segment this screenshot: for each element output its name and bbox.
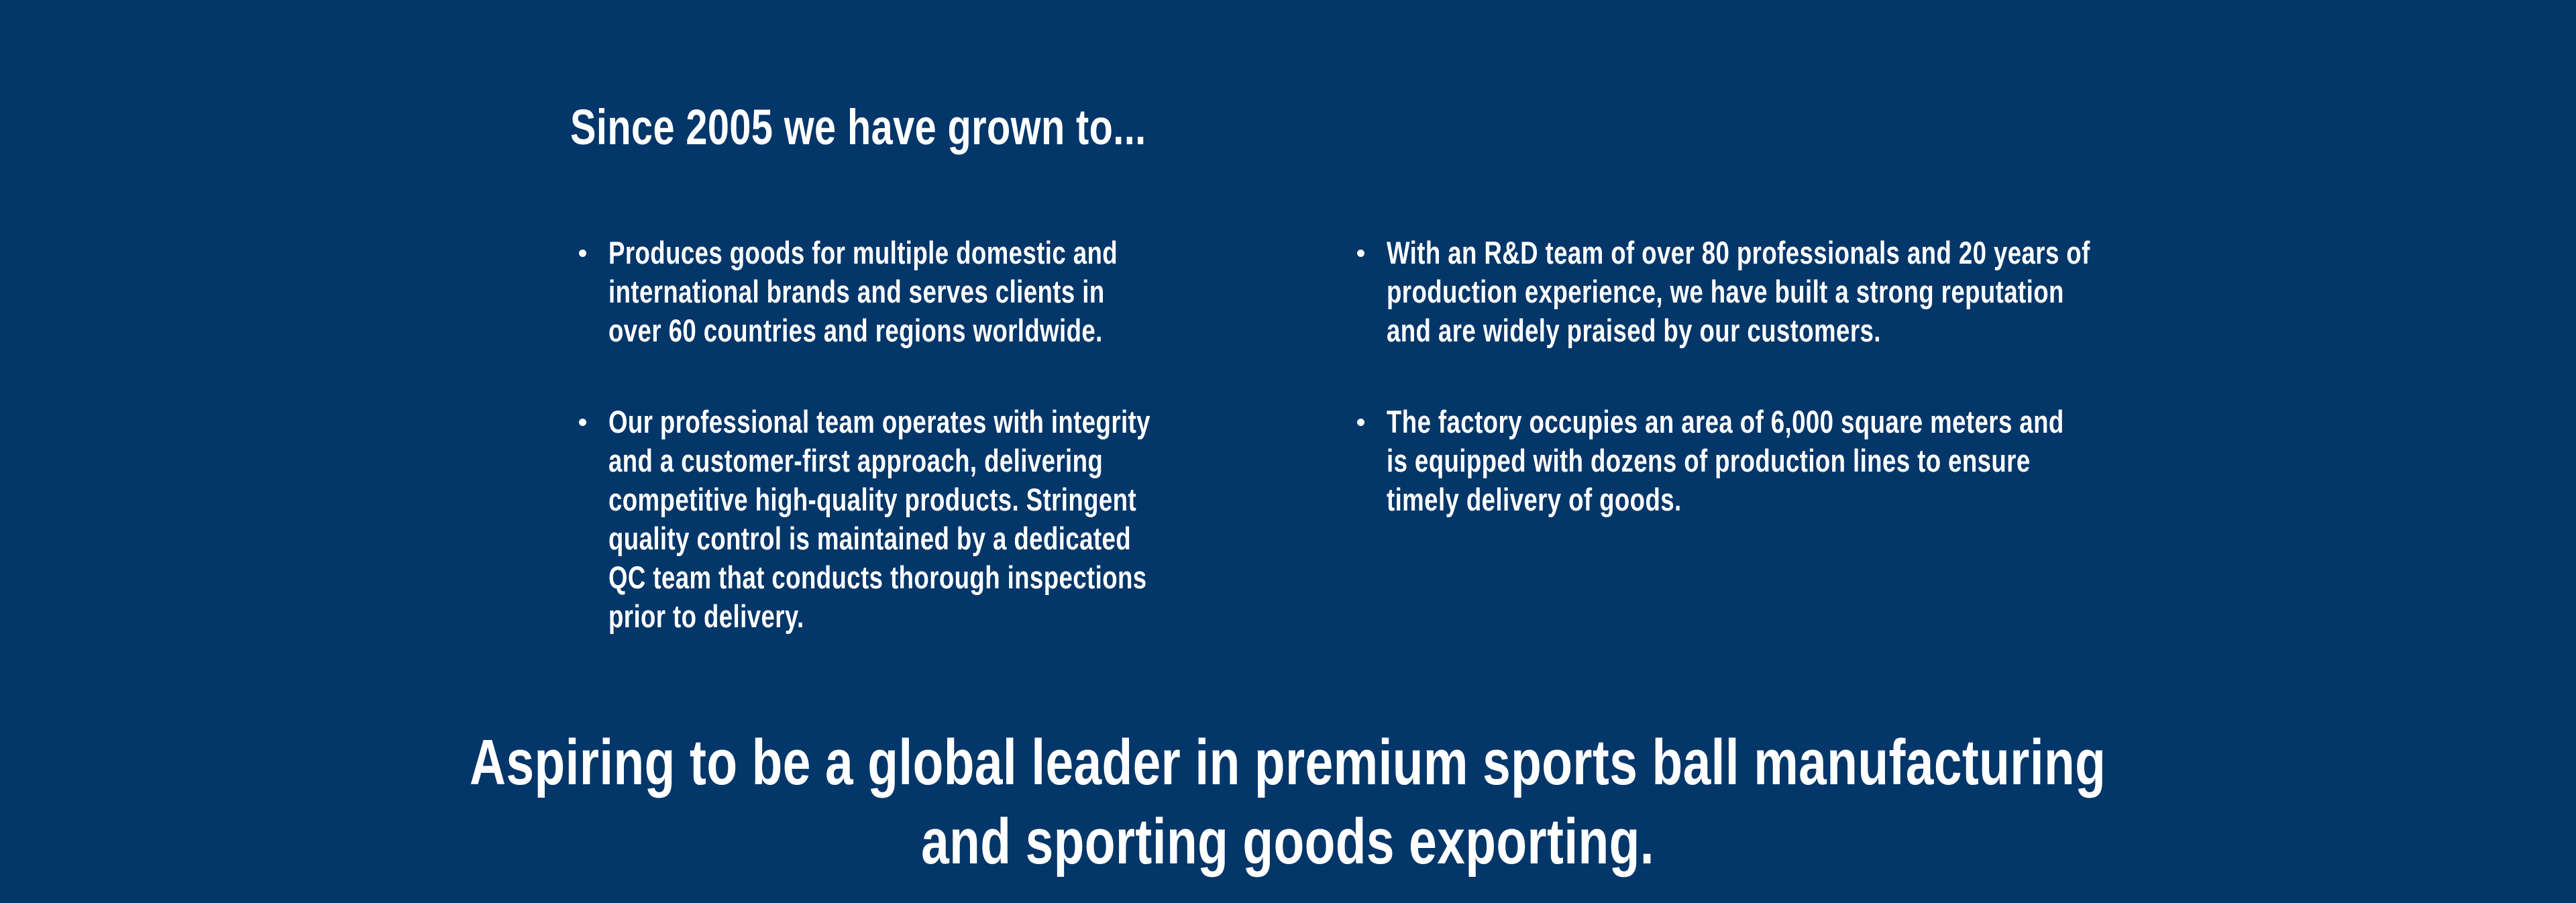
bullet-line: prior to delivery. bbox=[608, 597, 804, 636]
tagline-line-1: Aspiring to be a global leader in premiu… bbox=[470, 723, 2106, 802]
bullet-columns: Produces goods for multiple domestic and… bbox=[0, 233, 2576, 649]
bullet-line: With an R&D team of over 80 professional… bbox=[1387, 233, 2090, 272]
heading-text: Since 2005 we have grown to... bbox=[570, 94, 1146, 161]
tagline-line-2: and sporting goods exporting. bbox=[922, 802, 1655, 882]
bullet-dot-icon bbox=[1357, 419, 1364, 426]
bullet-line: competitive high-quality products. Strin… bbox=[608, 480, 1136, 519]
bullet-line: The factory occupies an area of 6,000 sq… bbox=[1387, 403, 2064, 441]
bullet-dot-icon bbox=[579, 419, 586, 426]
bullet-line: international brands and serves clients … bbox=[608, 272, 1105, 311]
bullet-line: quality control is maintained by a dedic… bbox=[608, 519, 1131, 558]
bullet-line: Produces goods for multiple domestic and bbox=[608, 233, 1118, 272]
bullet-line: is equipped with dozens of production li… bbox=[1387, 441, 2031, 480]
tagline: Aspiring to be a global leader in premiu… bbox=[0, 723, 2576, 882]
page-title: Since 2005 we have grown to... bbox=[570, 94, 1309, 168]
bullet-line: and a customer-first approach, deliverin… bbox=[608, 441, 1103, 480]
bullet-dot-icon bbox=[579, 250, 586, 257]
list-item: Our professional team operates with inte… bbox=[574, 403, 1218, 636]
list-item: Produces goods for multiple domestic and… bbox=[574, 233, 1218, 350]
list-item: With an R&D team of over 80 professional… bbox=[1352, 233, 2103, 350]
bullet-column-left: Produces goods for multiple domestic and… bbox=[574, 233, 1218, 636]
bullet-column-right: With an R&D team of over 80 professional… bbox=[1352, 233, 2103, 519]
slide-root: Since 2005 we have grown to... Produces … bbox=[0, 0, 2576, 903]
bullet-line: production experience, we have built a s… bbox=[1387, 272, 2064, 311]
bullet-line: QC team that conducts thorough inspectio… bbox=[608, 558, 1147, 597]
bullet-line: timely delivery of goods. bbox=[1387, 480, 1682, 519]
bullet-line: and are widely praised by our customers. bbox=[1387, 311, 1881, 350]
list-item: The factory occupies an area of 6,000 sq… bbox=[1352, 403, 2103, 519]
bullet-line: Our professional team operates with inte… bbox=[608, 403, 1150, 441]
bullet-line: over 60 countries and regions worldwide. bbox=[608, 311, 1103, 350]
bullet-dot-icon bbox=[1357, 250, 1364, 257]
